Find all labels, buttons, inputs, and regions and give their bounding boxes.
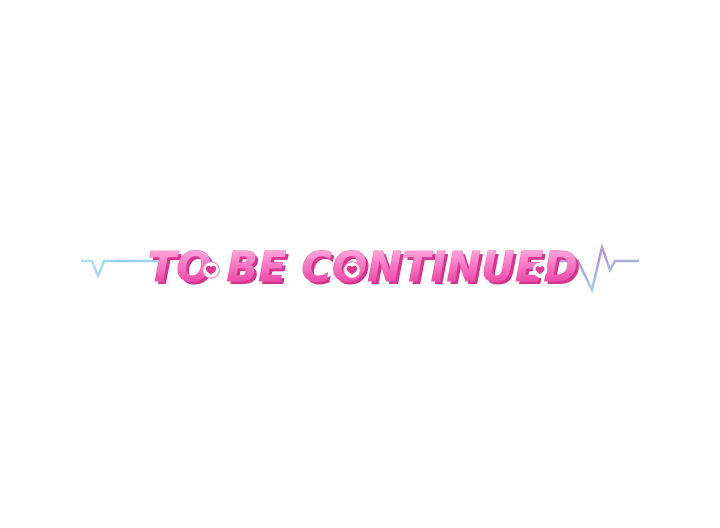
- heart-accent-icon: [533, 263, 547, 277]
- heart-accent-icon: [344, 262, 360, 278]
- to-be-continued-banner: TO BE CONTINUED TO BE CONTINUED: [0, 232, 720, 302]
- page-title: TO BE CONTINUED TO BE CONTINUED: [0, 232, 720, 302]
- end-card-canvas: TO BE CONTINUED TO BE CONTINUED: [0, 0, 720, 528]
- wordmark-svg: TO BE CONTINUED TO BE CONTINUED: [0, 232, 720, 302]
- heart-accent-icon: [203, 262, 219, 278]
